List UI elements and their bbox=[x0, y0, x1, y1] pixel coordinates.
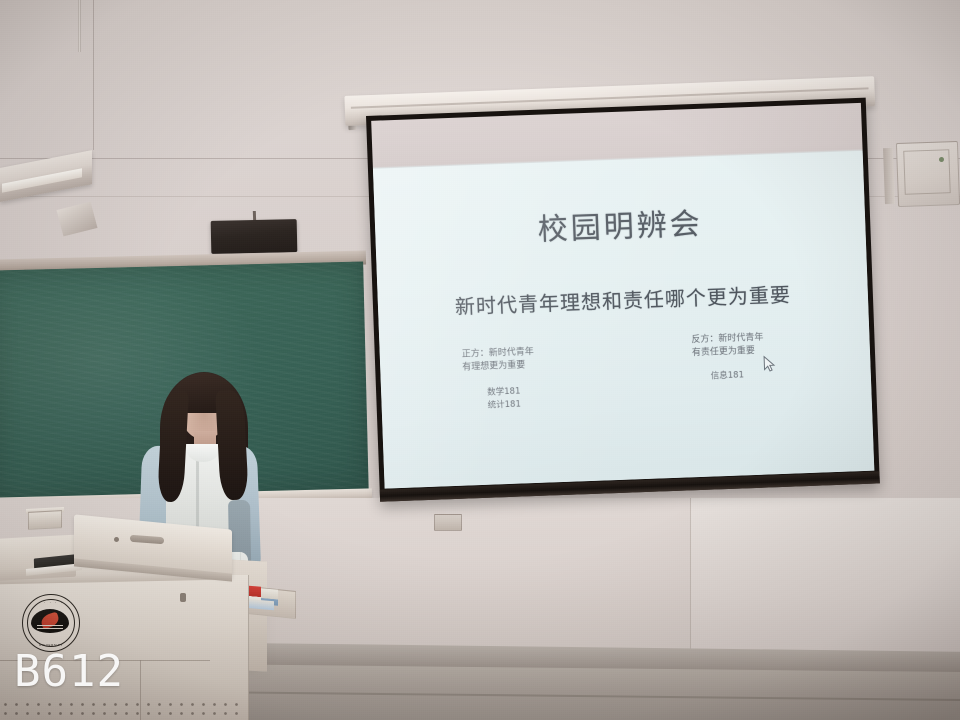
panel-bracket bbox=[883, 148, 895, 204]
classroom-photo: 校园明辨会 新时代青年理想和责任哪个更为重要 正方：新时代青年 有理想更为重要 … bbox=[0, 0, 960, 720]
podium-small-box[interactable] bbox=[28, 510, 62, 530]
panel-inner-frame bbox=[903, 149, 951, 195]
right-wall-panel bbox=[690, 498, 960, 658]
university-emblem-icon: · · · · · UNIVERSITY bbox=[22, 594, 80, 652]
con-side-statement: 反方：新时代青年 有责任更为重要 bbox=[691, 332, 764, 361]
panel-led-icon bbox=[939, 157, 944, 162]
emblem-wave-lines bbox=[37, 625, 63, 631]
pull-down-projection-screen[interactable]: 校园明辨会 新时代青年理想和责任哪个更为重要 正方：新时代青年 有理想更为重要 … bbox=[366, 98, 880, 502]
lamp-suspension-rod bbox=[78, 0, 81, 52]
emblem-core bbox=[31, 609, 69, 633]
emblem-top-text: · · · · · bbox=[23, 600, 79, 605]
con-side-teams: 信息181 bbox=[711, 369, 745, 383]
podium-vent-perforations bbox=[0, 700, 240, 718]
wall-outlet-icon[interactable] bbox=[434, 514, 462, 531]
wall-speaker-icon bbox=[211, 219, 298, 254]
screen-surface: 校园明辨会 新时代青年理想和责任哪个更为重要 正方：新时代青年 有理想更为重要 … bbox=[371, 103, 874, 489]
b612-watermark: B612 bbox=[14, 650, 124, 694]
slide-subtitle: 新时代青年理想和责任哪个更为重要 bbox=[378, 276, 869, 323]
pro-side-teams: 数学181 统计181 bbox=[487, 386, 521, 413]
projected-slide: 校园明辨会 新时代青年理想和责任哪个更为重要 正方：新时代青年 有理想更为重要 … bbox=[373, 151, 874, 489]
slide-title: 校园明辨会 bbox=[374, 193, 865, 255]
podium-keyhole-icon[interactable] bbox=[180, 593, 186, 602]
pro-side-statement: 正方：新时代青年 有理想更为重要 bbox=[462, 346, 535, 375]
ceiling-panel-line bbox=[93, 0, 94, 150]
podium-lid-dot-icon bbox=[114, 537, 119, 542]
